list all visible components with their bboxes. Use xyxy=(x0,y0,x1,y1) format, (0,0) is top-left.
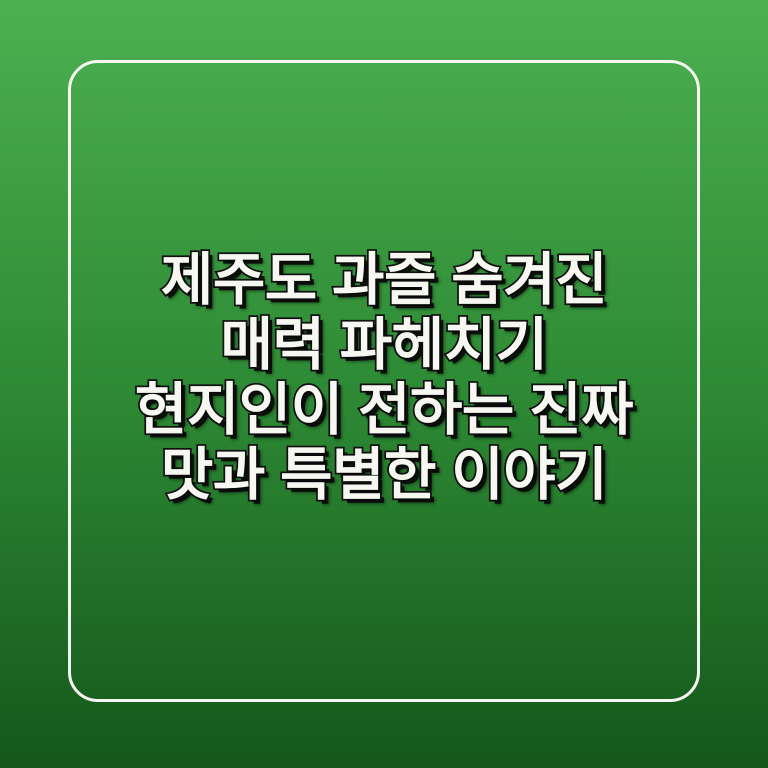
headline-line-2: 매력 파헤치기 xyxy=(72,313,696,378)
headline-line-4: 맛과 특별한 이야기 xyxy=(72,443,696,508)
headline-line-3: 현지인이 전하는 진짜 xyxy=(72,378,696,443)
thumbnail-card: 제주도 과즐 숨겨진 매력 파헤치기 현지인이 전하는 진짜 맛과 특별한 이야… xyxy=(0,0,768,768)
headline-line-1: 제주도 과즐 숨겨진 xyxy=(72,248,696,313)
headline-text-block: 제주도 과즐 숨겨진 매력 파헤치기 현지인이 전하는 진짜 맛과 특별한 이야… xyxy=(0,248,768,508)
